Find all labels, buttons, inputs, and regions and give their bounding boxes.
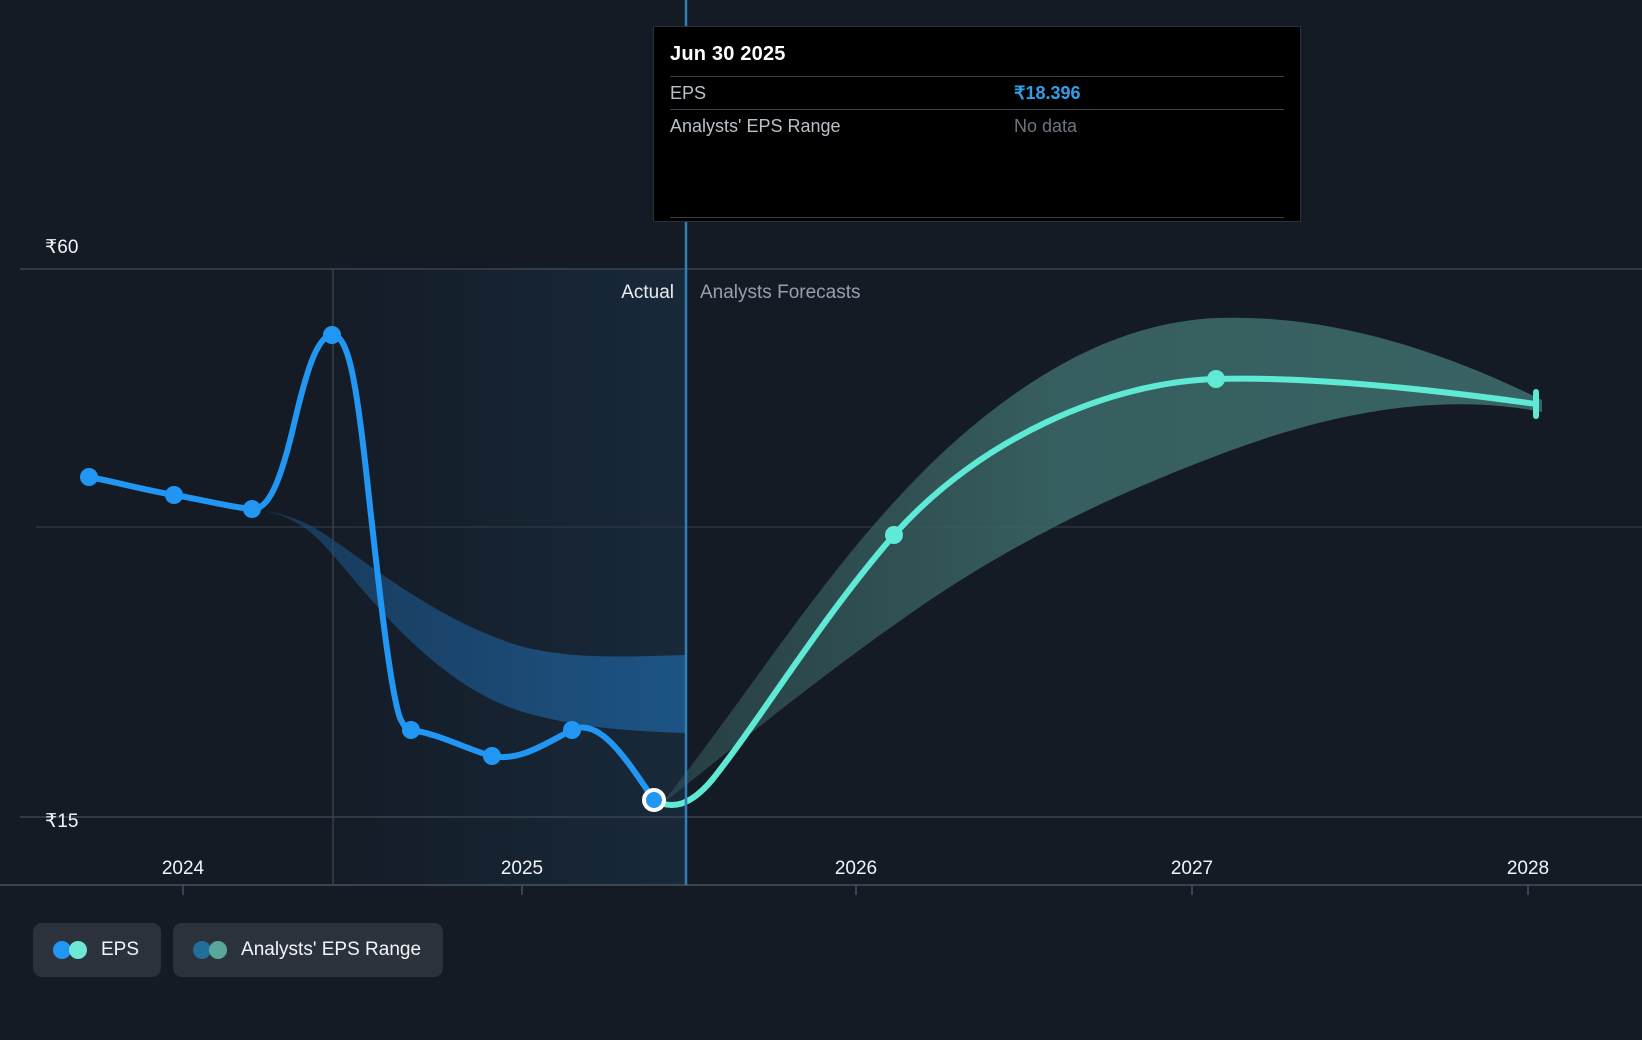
tooltip-value-eps: ₹18.396 (1014, 83, 1081, 104)
actual-region-shading (333, 269, 686, 885)
legend-swatch-eps-icon (53, 941, 87, 959)
x-axis-label-2025: 2025 (501, 858, 543, 880)
forecast-period-label: Analysts Forecasts (700, 282, 861, 304)
data-point (885, 526, 903, 544)
data-point (80, 468, 98, 486)
data-point (165, 486, 183, 504)
tooltip-date: Jun 30 2025 (670, 27, 1284, 76)
actual-period-label: Actual (621, 282, 674, 304)
legend-item-analysts-eps-range[interactable]: Analysts' EPS Range (173, 923, 443, 977)
tooltip-label-analysts-range: Analysts' EPS Range (670, 116, 1014, 137)
data-point (563, 721, 581, 739)
tooltip-row-analysts-range: Analysts' EPS Range No data (670, 109, 1284, 142)
tooltip-footer-divider (670, 217, 1284, 218)
chart-legend: EPS Analysts' EPS Range (33, 923, 443, 977)
selected-data-point (644, 790, 664, 810)
data-point (323, 326, 341, 344)
x-axis-label-2028: 2028 (1507, 858, 1549, 880)
x-axis-ticks (183, 885, 1528, 895)
y-axis-label-min: ₹15 (45, 810, 79, 833)
x-axis-label-2026: 2026 (835, 858, 877, 880)
tooltip-row-eps: EPS ₹18.396 (670, 76, 1284, 109)
legend-label-eps: EPS (101, 939, 139, 961)
y-axis-label-max: ₹60 (45, 236, 79, 259)
data-point (402, 721, 420, 739)
x-axis-label-2024: 2024 (162, 858, 204, 880)
tooltip-value-analysts-range: No data (1014, 116, 1077, 137)
legend-item-eps[interactable]: EPS (33, 923, 161, 977)
eps-forecast-chart: ₹60 ₹15 2024 2025 2026 2027 2028 Actual … (0, 0, 1642, 1040)
legend-swatch-analysts-range-icon (193, 941, 227, 959)
data-point (243, 500, 261, 518)
data-point (1207, 370, 1225, 388)
chart-tooltip: Jun 30 2025 EPS ₹18.396 Analysts' EPS Ra… (653, 26, 1301, 222)
tooltip-label-eps: EPS (670, 83, 1014, 104)
data-point (483, 747, 501, 765)
legend-label-analysts-eps-range: Analysts' EPS Range (241, 939, 421, 961)
x-axis-label-2027: 2027 (1171, 858, 1213, 880)
